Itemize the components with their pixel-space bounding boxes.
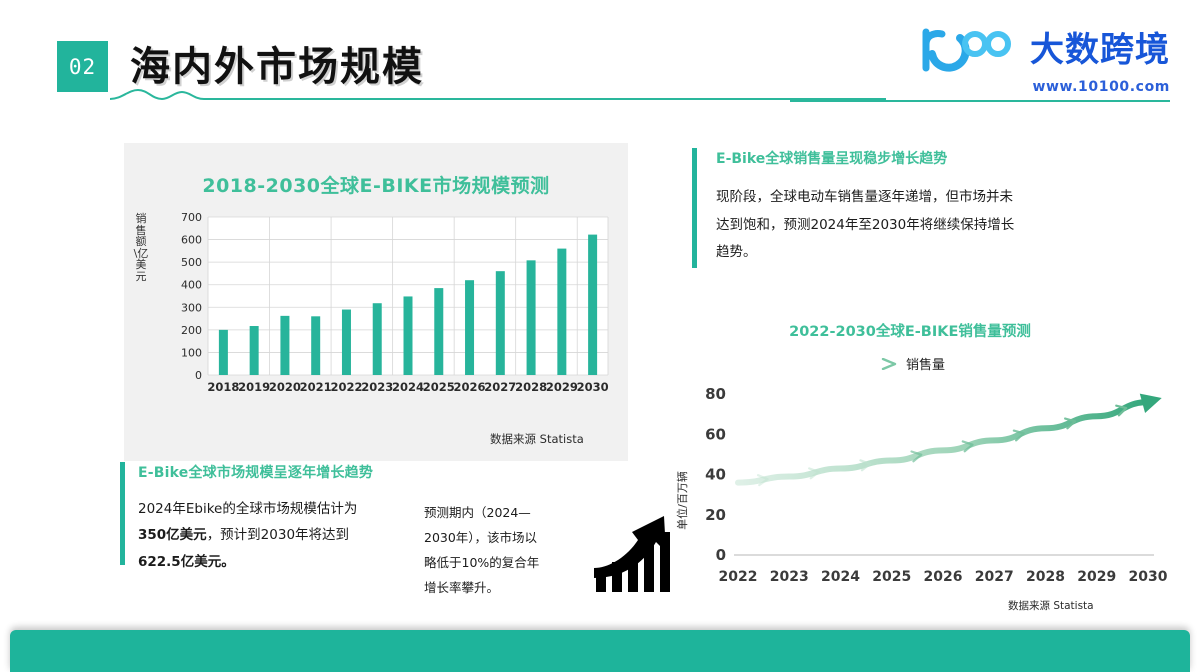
svg-text:2028: 2028 xyxy=(515,380,547,394)
line-chart-y-axis-label: 单位/百万辆 xyxy=(675,471,689,530)
section-number-label: 02 xyxy=(69,55,96,79)
svg-text:20: 20 xyxy=(705,506,726,524)
section-number-badge: 02 xyxy=(57,41,108,92)
svg-text:700: 700 xyxy=(181,211,202,224)
svg-text:400: 400 xyxy=(181,279,202,292)
logo-website-url: www.10100.com xyxy=(912,79,1170,95)
bar-chart-card: 2018-2030全球E-BIKE市场规模预测 销售额\亿美元 01002003… xyxy=(124,143,628,461)
svg-text:60: 60 xyxy=(705,425,726,443)
svg-text:300: 300 xyxy=(181,301,202,314)
line-chart-card: 2022-2030全球E-BIKE销售量预测 销售量 0204060802022… xyxy=(660,312,1170,612)
svg-text:2020: 2020 xyxy=(269,380,301,394)
callout-market-size-heading: E-Bike全球市场规模呈逐年增长趋势 xyxy=(138,462,420,482)
sales-trend-line-3: 趋势。 xyxy=(716,239,1162,267)
svg-text:2027: 2027 xyxy=(975,569,1014,585)
bar-chart-plot: 0100200300400500600700201820192020202120… xyxy=(166,211,616,411)
callout-line-2-rest: ，预计到2030年将达到 xyxy=(207,527,349,543)
svg-text:2030: 2030 xyxy=(577,380,609,394)
callout-market-size-body: 2024年Ebike的全球市场规模估计为 350亿美元，预计到2030年将达到 … xyxy=(138,496,420,575)
line-chart-title: 2022-2030全球E-BIKE销售量预测 xyxy=(660,320,1160,341)
svg-text:2026: 2026 xyxy=(924,569,963,585)
line-chart-plot: 0204060802022202320242025202620272028202… xyxy=(660,370,1170,595)
legend-arrow-icon xyxy=(850,358,898,370)
svg-text:2021: 2021 xyxy=(300,380,332,394)
page-title: 海内外市场规模 xyxy=(130,34,424,92)
svg-text:2027: 2027 xyxy=(484,380,516,394)
svg-text:100: 100 xyxy=(181,346,202,359)
cagr-line-2: 2030年），该市场以 xyxy=(424,525,584,550)
svg-text:2024: 2024 xyxy=(392,380,424,394)
callout-line-2: 350亿美元，预计到2030年将达到 xyxy=(138,522,420,548)
callout-line-3-bold: 622.5亿美元。 xyxy=(138,554,235,570)
svg-text:600: 600 xyxy=(181,234,202,247)
svg-text:2024: 2024 xyxy=(821,569,860,585)
slide-header: 02 海内外市场规模 大数跨境 www.10100.com xyxy=(0,0,1200,120)
svg-text:2018: 2018 xyxy=(207,380,239,394)
bar-chart-title: 2018-2030全球E-BIKE市场规模预测 xyxy=(124,171,628,198)
callout-cagr-paragraph: 预测期内（2024— 2030年），该市场以 略低于10%的复合年 增长率攀升。 xyxy=(424,500,584,600)
svg-text:500: 500 xyxy=(181,256,202,269)
svg-text:2028: 2028 xyxy=(1026,569,1065,585)
logo-brand-text: 大数跨境 xyxy=(1030,33,1170,67)
callout-line-2-bold: 350亿美元 xyxy=(138,527,207,543)
svg-text:2019: 2019 xyxy=(238,380,270,394)
svg-text:40: 40 xyxy=(705,466,726,484)
callout-sales-trend-body: 现阶段，全球电动车销售量逐年递增，但市场并未 达到饱和，预测2024年至2030… xyxy=(716,184,1162,267)
svg-text:2023: 2023 xyxy=(770,569,809,585)
svg-text:2030: 2030 xyxy=(1129,569,1168,585)
line-chart-source: 数据来源 Statista xyxy=(1008,598,1094,613)
callout-market-size: E-Bike全球市场规模呈逐年增长趋势 2024年Ebike的全球市场规模估计为… xyxy=(120,462,420,575)
svg-text:80: 80 xyxy=(705,385,726,403)
svg-text:200: 200 xyxy=(181,324,202,337)
cagr-line-1: 预测期内（2024— xyxy=(424,500,584,525)
svg-text:2023: 2023 xyxy=(361,380,393,394)
logo-mark-icon xyxy=(912,28,1024,72)
callout-sales-trend: E-Bike全球销售量呈现稳步增长趋势 现阶段，全球电动车销售量逐年递增，但市场… xyxy=(692,148,1162,267)
sales-trend-line-1: 现阶段，全球电动车销售量逐年递增，但市场并未 xyxy=(716,184,1162,212)
callout-line-3: 622.5亿美元。 xyxy=(138,549,420,575)
callout-accent-bar xyxy=(120,462,125,565)
cagr-line-4: 增长率攀升。 xyxy=(424,575,584,600)
sales-trend-line-2: 达到饱和，预测2024年至2030年将继续保持增长 xyxy=(716,212,1162,240)
callout-sales-accent-bar xyxy=(692,148,697,268)
svg-text:2025: 2025 xyxy=(872,569,911,585)
svg-text:2022: 2022 xyxy=(719,569,758,585)
brand-logo: 大数跨境 www.10100.com xyxy=(912,28,1170,95)
svg-text:2025: 2025 xyxy=(423,380,455,394)
header-divider-line xyxy=(790,100,1170,102)
title-underline-squiggle xyxy=(108,88,888,102)
svg-text:0: 0 xyxy=(716,546,726,564)
svg-text:2029: 2029 xyxy=(546,380,578,394)
slide-root: 02 海内外市场规模 大数跨境 www.10100.com 2018-2030全… xyxy=(0,0,1200,672)
svg-text:0: 0 xyxy=(195,369,202,382)
bar-chart-y-axis-label: 销售额\亿美元 xyxy=(132,213,150,282)
svg-text:2022: 2022 xyxy=(330,380,362,394)
cagr-line-3: 略低于10%的复合年 xyxy=(424,550,584,575)
callout-sales-trend-heading: E-Bike全球销售量呈现稳步增长趋势 xyxy=(716,148,1162,168)
bar-chart-source: 数据来源 Statista xyxy=(490,431,584,447)
callout-line-1: 2024年Ebike的全球市场规模估计为 xyxy=(138,496,420,522)
svg-text:2026: 2026 xyxy=(454,380,486,394)
svg-text:2029: 2029 xyxy=(1077,569,1116,585)
slide-footer-bar xyxy=(10,630,1190,672)
